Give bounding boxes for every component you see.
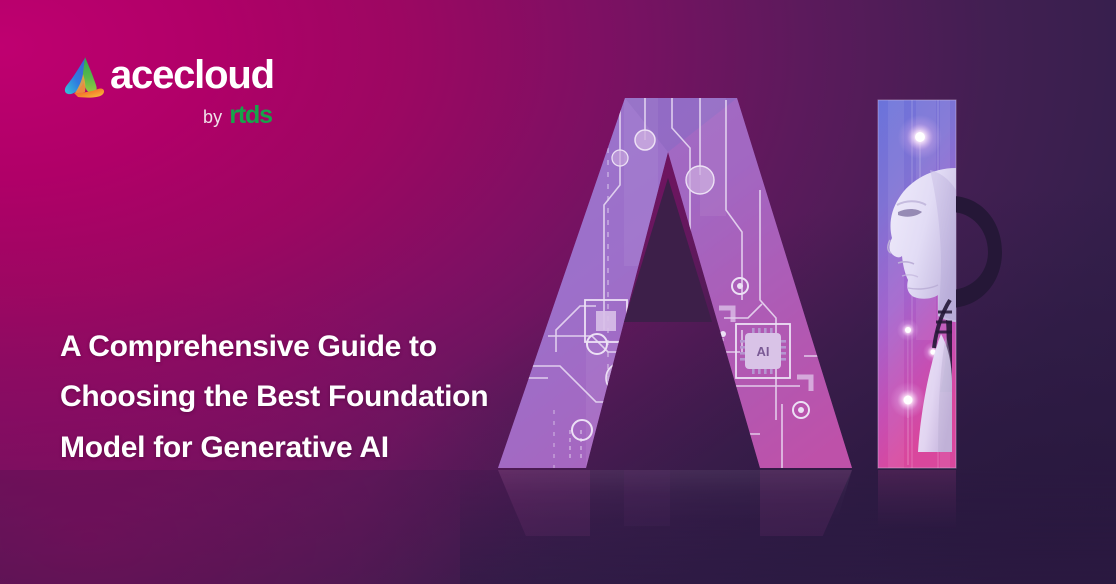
logo-wordmark: acecloud [110,55,274,95]
headline-line-3: Model for Generative AI [60,423,600,473]
robot-ear-ring [951,196,1002,308]
logo-byline-brand: rtds [229,101,271,130]
acecloud-boomerang-mark [62,52,110,98]
hero-banner: AI [0,0,1116,584]
ai-chip-label: AI [757,344,770,359]
logo-byline-prefix: by [203,107,222,128]
headline-line-2: Choosing the Best Foundation [60,372,600,422]
acecloud-logo[interactable]: acecloud by rtds [62,52,274,130]
logo-primary-row: acecloud [62,52,274,98]
headline-line-1: A Comprehensive Guide to [60,322,600,372]
logo-byline: by rtds [203,101,272,130]
page-title: A Comprehensive Guide to Choosing the Be… [60,322,600,473]
reflection-group [0,470,1116,584]
